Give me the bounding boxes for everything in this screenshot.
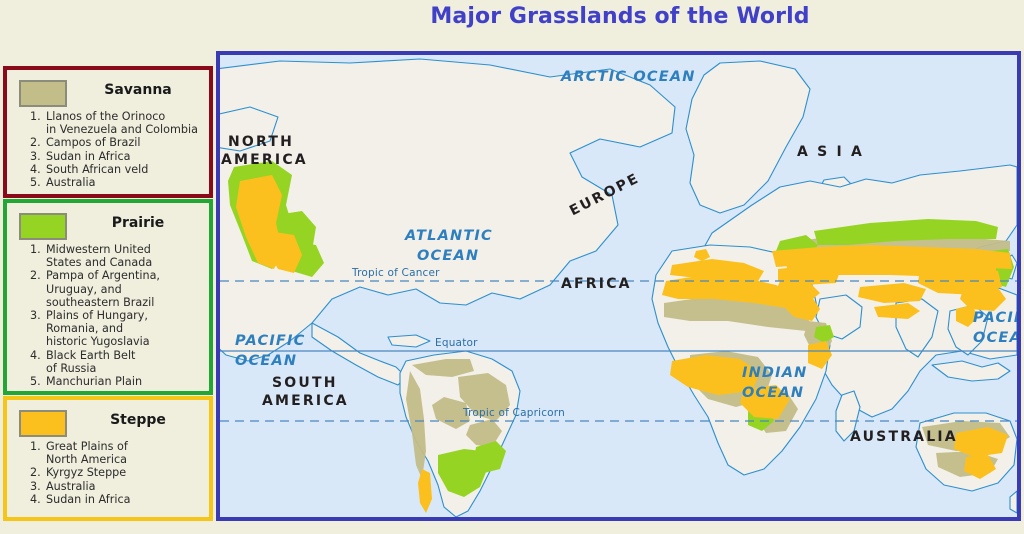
item-line-1: Kyrgyz Steppe xyxy=(46,466,126,479)
list-item: Sudan in Africa xyxy=(33,493,209,506)
item-line-2: Uruguay, and xyxy=(46,283,209,296)
item-line-1: Campos of Brazil xyxy=(46,136,140,149)
legend-box-steppe[interactable]: Steppe Great Plains of North America Kyr… xyxy=(3,396,213,521)
item-line-1: Llanos of the Orinoco xyxy=(46,110,165,123)
map-graphic xyxy=(220,55,1017,517)
legend-header-prairie: Prairie xyxy=(7,203,209,243)
item-line-1: Black Earth Belt xyxy=(46,349,135,362)
item-line-2: North America xyxy=(46,453,209,466)
legend-header-steppe: Steppe xyxy=(7,400,209,440)
legend-list-savanna: Llanos of the Orinoco in Venezuela and C… xyxy=(7,110,209,189)
prairie-color-swatch xyxy=(19,213,67,240)
item-line-1: South African veld xyxy=(46,163,148,176)
item-line-2: of Russia xyxy=(46,362,209,375)
legend-list-prairie: Midwestern United States and Canada Pamp… xyxy=(7,243,209,388)
item-line-1: Australia xyxy=(46,176,96,189)
list-item: Great Plains of North America xyxy=(33,440,209,466)
item-line-2: in Venezuela and Colombia xyxy=(46,123,209,136)
legend-box-prairie[interactable]: Prairie Midwestern United States and Can… xyxy=(3,199,213,395)
list-item: Sudan in Africa xyxy=(33,150,209,163)
item-line-1: Midwestern United xyxy=(46,243,151,256)
legend-header-savanna: Savanna xyxy=(7,70,209,110)
legend-title-steppe: Steppe xyxy=(73,412,203,428)
world-map[interactable]: ARCTIC OCEAN NORTH AMERICA ATLANTIC OCEA… xyxy=(216,51,1021,521)
legend-title-savanna: Savanna xyxy=(73,82,203,98)
grasslands-map-page: Major Grasslands of the World Savanna Ll… xyxy=(0,0,1024,534)
page-title: Major Grasslands of the World xyxy=(216,4,1024,29)
item-line-2: States and Canada xyxy=(46,256,209,269)
list-item: Pampa of Argentina, Uruguay, and southea… xyxy=(33,269,209,309)
list-item: Australia xyxy=(33,176,209,189)
list-item: Midwestern United States and Canada xyxy=(33,243,209,269)
item-line-1: Manchurian Plain xyxy=(46,375,142,388)
map-canvas: ARCTIC OCEAN NORTH AMERICA ATLANTIC OCEA… xyxy=(220,55,1017,517)
list-item: Australia xyxy=(33,480,209,493)
item-line-1: Great Plains of xyxy=(46,440,128,453)
item-line-1: Sudan in Africa xyxy=(46,150,130,163)
list-item: Campos of Brazil xyxy=(33,136,209,149)
legend-list-steppe: Great Plains of North America Kyrgyz Ste… xyxy=(7,440,209,506)
savanna-color-swatch xyxy=(19,80,67,107)
item-line-3: historic Yugoslavia xyxy=(46,335,209,348)
item-line-1: Pampa of Argentina, xyxy=(46,269,160,282)
list-item: Black Earth Belt of Russia xyxy=(33,349,209,375)
item-line-1: Australia xyxy=(46,480,96,493)
item-line-2: Romania, and xyxy=(46,322,209,335)
list-item: Manchurian Plain xyxy=(33,375,209,388)
list-item: Llanos of the Orinoco in Venezuela and C… xyxy=(33,110,209,136)
legend-panel: Savanna Llanos of the Orinoco in Venezue… xyxy=(3,66,213,521)
list-item: Plains of Hungary, Romania, and historic… xyxy=(33,309,209,349)
list-item: Kyrgyz Steppe xyxy=(33,466,209,479)
legend-box-savanna[interactable]: Savanna Llanos of the Orinoco in Venezue… xyxy=(3,66,213,198)
item-line-1: Sudan in Africa xyxy=(46,493,130,506)
legend-title-prairie: Prairie xyxy=(73,215,203,231)
list-item: South African veld xyxy=(33,163,209,176)
steppe-color-swatch xyxy=(19,410,67,437)
item-line-3: southeastern Brazil xyxy=(46,296,209,309)
item-line-1: Plains of Hungary, xyxy=(46,309,148,322)
